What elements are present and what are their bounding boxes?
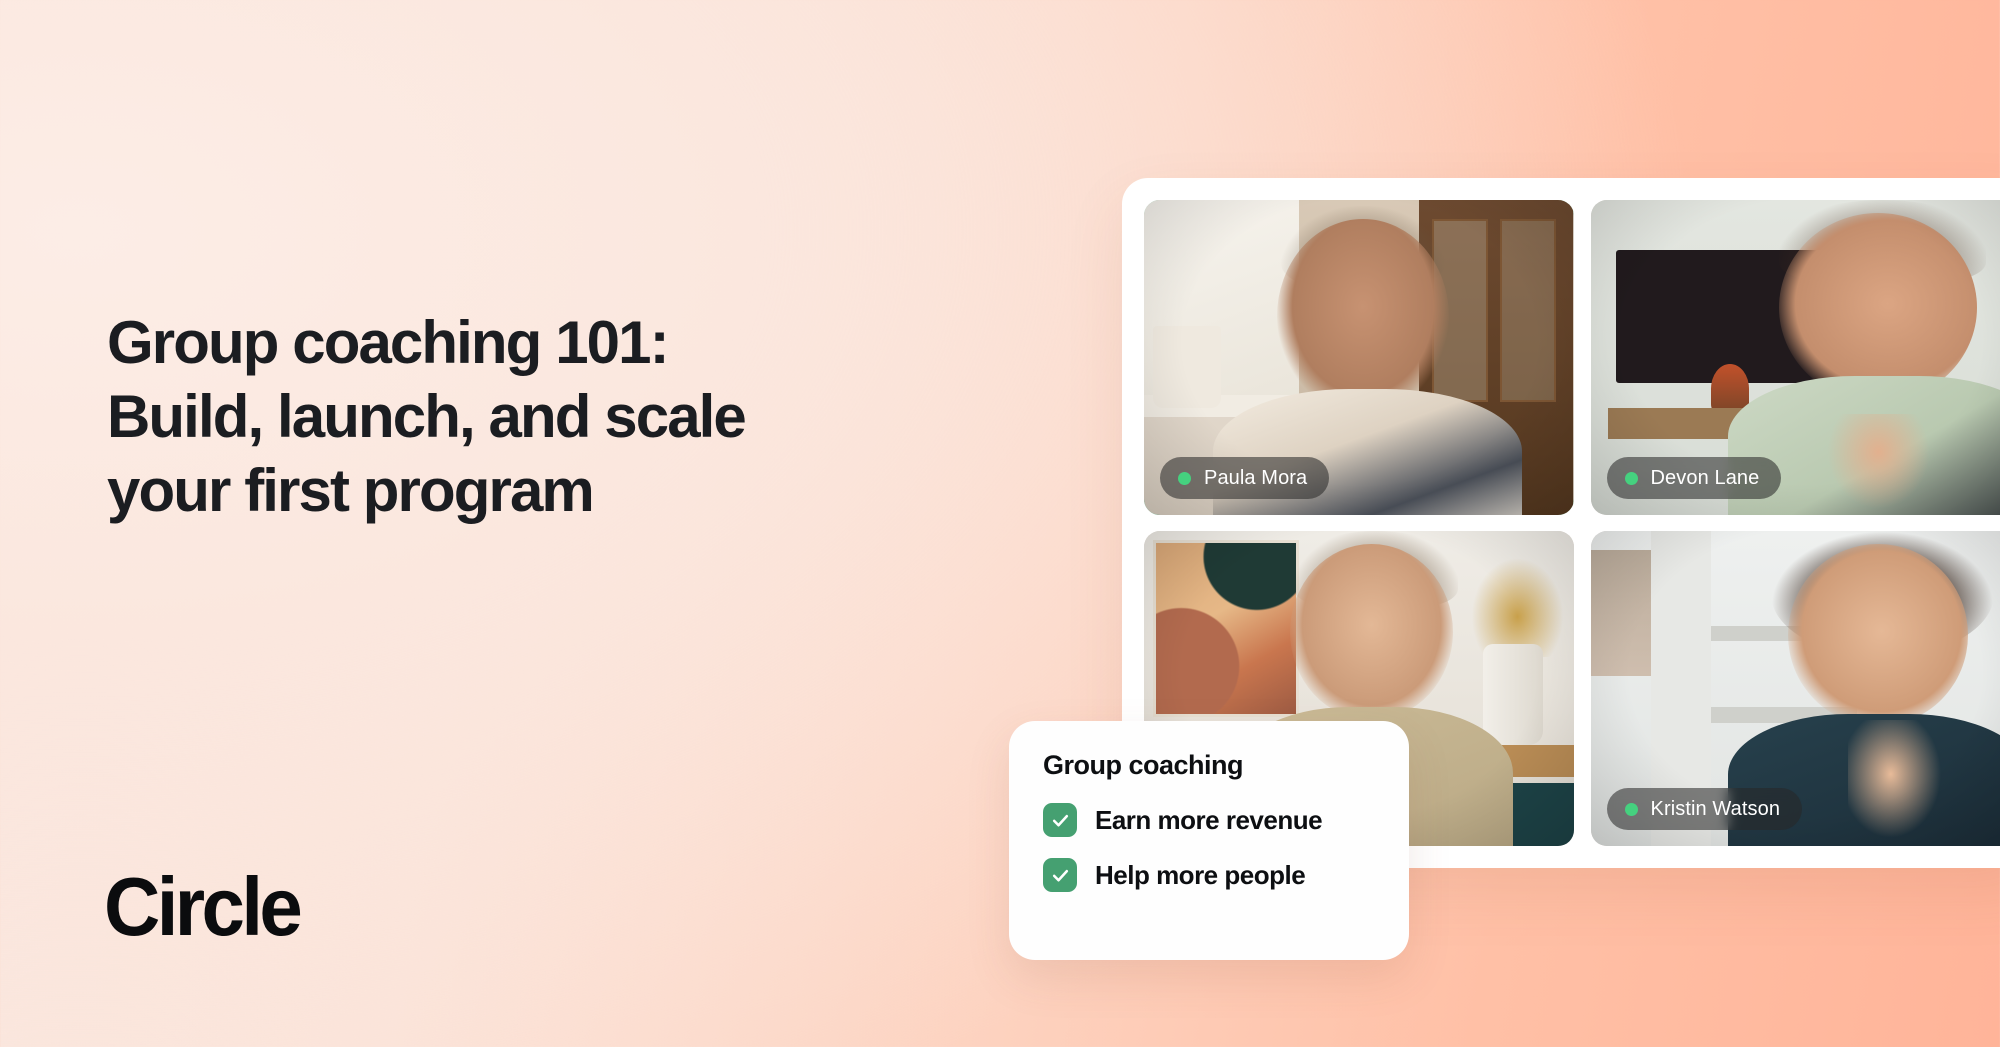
checkmark-icon — [1043, 803, 1077, 837]
feature-item-label: Help more people — [1095, 860, 1305, 891]
group-coaching-feature-card: Group coaching Earn more revenue Help mo… — [1009, 721, 1409, 960]
headline-line-2: Build, launch, and scale — [107, 380, 867, 454]
participant-name-pill: Devon Lane — [1607, 457, 1782, 499]
video-tile-devon-lane[interactable]: Devon Lane — [1591, 200, 2000, 515]
video-tile-paula-mora[interactable]: Paula Mora — [1144, 200, 1574, 515]
headline-line-3: your first program — [107, 454, 867, 528]
online-status-dot-icon — [1625, 803, 1638, 816]
video-tile-kristin-watson[interactable]: Kristin Watson — [1591, 531, 2000, 846]
feature-card-title: Group coaching — [1043, 750, 1375, 781]
hero-copy-column: Group coaching 101: Build, launch, and s… — [0, 0, 880, 1047]
feature-list-item: Help more people — [1043, 858, 1375, 892]
participant-name-pill: Kristin Watson — [1607, 788, 1803, 830]
participant-name: Kristin Watson — [1651, 798, 1781, 821]
feature-list-item: Earn more revenue — [1043, 803, 1375, 837]
headline-line-1: Group coaching 101: — [107, 306, 867, 380]
online-status-dot-icon — [1178, 472, 1191, 485]
checkmark-icon — [1043, 858, 1077, 892]
circle-logo-wordmark: Circle — [104, 865, 299, 948]
feature-item-label: Earn more revenue — [1095, 805, 1322, 836]
online-status-dot-icon — [1625, 472, 1638, 485]
participant-name: Devon Lane — [1651, 467, 1760, 490]
participant-name: Paula Mora — [1204, 467, 1307, 490]
participant-name-pill: Paula Mora — [1160, 457, 1329, 499]
page-title: Group coaching 101: Build, launch, and s… — [107, 306, 867, 528]
